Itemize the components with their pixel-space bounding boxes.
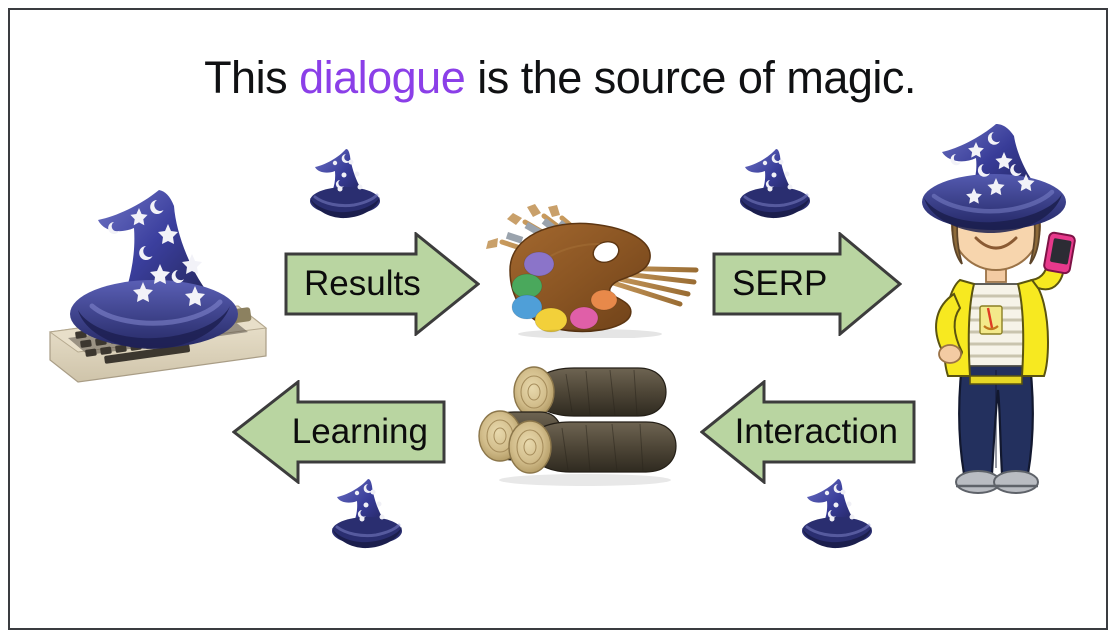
wizard-hat-icon [792, 472, 884, 554]
arrow-results[interactable]: Results [284, 232, 480, 336]
title-suffix: is the source of magic. [465, 52, 916, 103]
person-badge [980, 306, 1002, 334]
wizard-hat-icon [730, 142, 822, 224]
arrow-learning[interactable]: Learning [232, 380, 446, 484]
wizard-hat-icon [300, 142, 392, 224]
node-logs [470, 354, 692, 496]
arrow-interaction[interactable]: Interaction [700, 380, 916, 484]
wizard-hat-large [70, 190, 238, 349]
slide-root: This dialogue is the source of magic. [0, 0, 1120, 640]
page-title: This dialogue is the source of magic. [0, 52, 1120, 104]
wizard-hat-icon [322, 472, 414, 554]
person-phone [1043, 232, 1075, 274]
arrow-serp[interactable]: SERP [712, 232, 902, 336]
title-highlight-dialogue: dialogue [299, 52, 465, 103]
log-back [514, 367, 666, 417]
node-artist-palette [470, 196, 702, 338]
log-front [509, 421, 676, 473]
person-shoes [956, 471, 1038, 493]
wizard-hat-person [922, 124, 1066, 233]
node-computer [42, 160, 274, 392]
node-person [898, 108, 1094, 512]
title-prefix: This [204, 52, 299, 103]
